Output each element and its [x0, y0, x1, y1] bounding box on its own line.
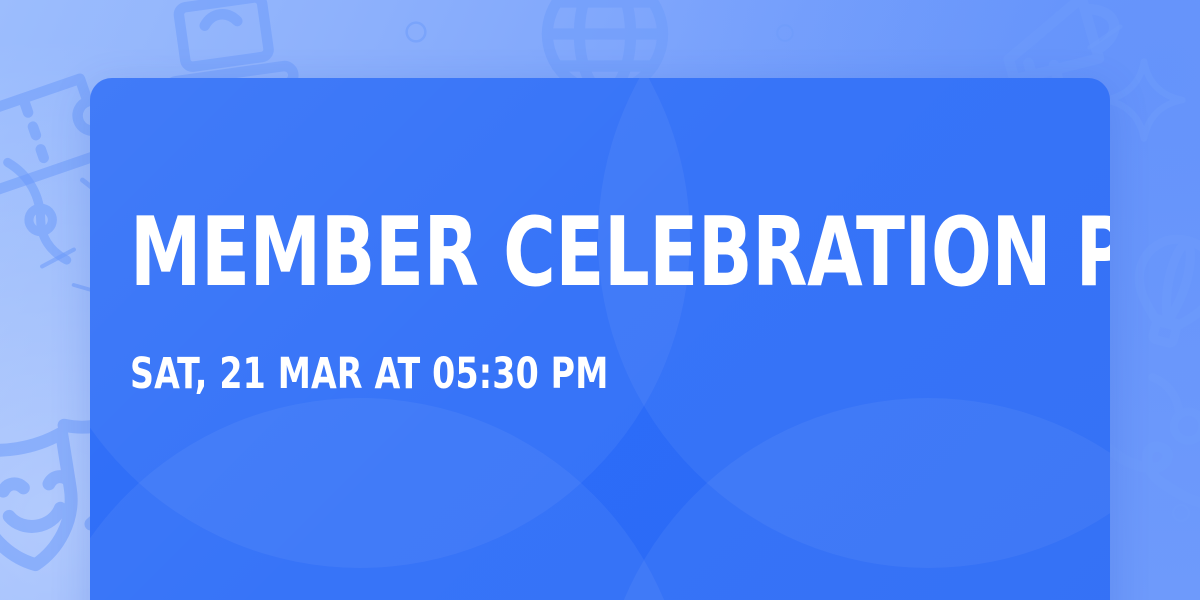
hot-air-balloon-icon: [1096, 212, 1200, 370]
confetti-dot-icon: [770, 18, 800, 48]
confetti-dot-icon: [1166, 498, 1196, 528]
confetti-dot-icon: [398, 14, 434, 50]
event-card-body: Member Celebration Party Sat, 21 Mar at …: [130, 78, 1030, 600]
event-datetime: Sat, 21 Mar at 05:30 PM: [130, 353, 904, 396]
event-card[interactable]: Member Celebration Party Sat, 21 Mar at …: [90, 78, 1110, 600]
event-banner-stage: Member Celebration Party Sat, 21 Mar at …: [0, 0, 1200, 600]
event-title: Member Celebration Party: [130, 208, 886, 299]
